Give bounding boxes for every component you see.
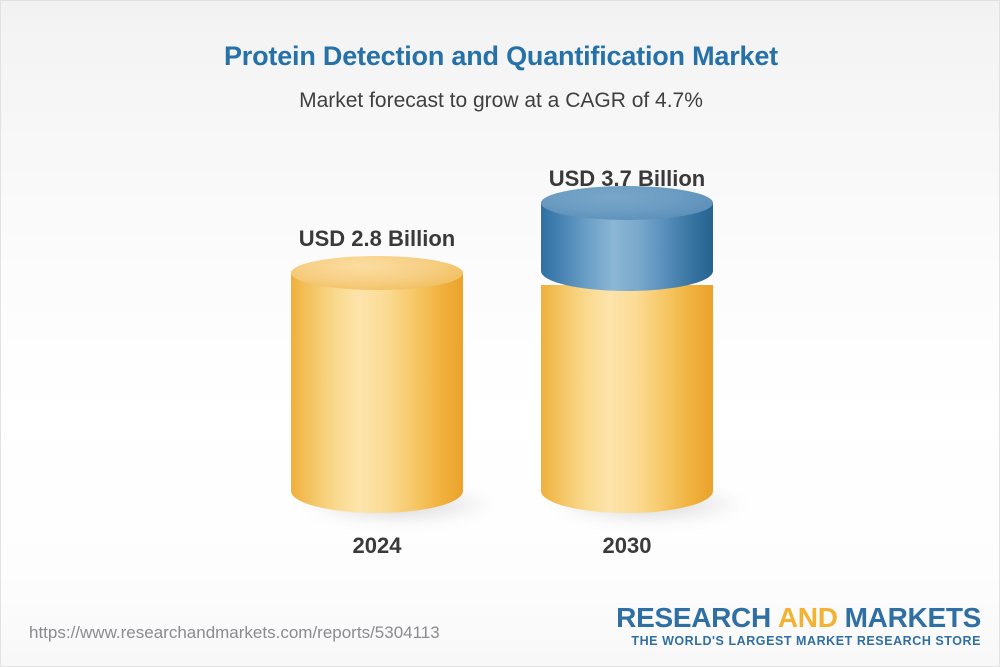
bar-cylinder-2030-base[interactable] <box>541 285 713 513</box>
category-label-2030: 2030 <box>477 533 777 559</box>
cylinder-body-2030-base <box>541 285 713 513</box>
logo-word-markets: MARKETS <box>845 602 981 633</box>
cylinder-top-2030 <box>541 186 713 220</box>
plot-area: USD 2.8 Billion 2024 USD 3.7 Billion 203… <box>1 1 1000 601</box>
logo-tagline: THE WORLD'S LARGEST MARKET RESEARCH STOR… <box>616 634 981 649</box>
chart-page: Protein Detection and Quantification Mar… <box>0 0 1000 667</box>
cylinder-body-2024 <box>291 273 463 513</box>
value-label-2024: USD 2.8 Billion <box>227 226 527 252</box>
logo-wordmark: RESEARCHANDMARKETS <box>616 603 981 632</box>
researchandmarkets-logo[interactable]: RESEARCHANDMARKETS THE WORLD'S LARGEST M… <box>616 603 981 649</box>
cylinder-top-2024 <box>291 256 463 290</box>
logo-word-and: AND <box>778 602 838 633</box>
bar-cylinder-2024[interactable] <box>291 273 463 513</box>
report-url[interactable]: https://www.researchandmarkets.com/repor… <box>29 623 440 643</box>
bar-cylinder-2030-growth[interactable] <box>541 203 713 291</box>
logo-word-research: RESEARCH <box>616 602 771 633</box>
